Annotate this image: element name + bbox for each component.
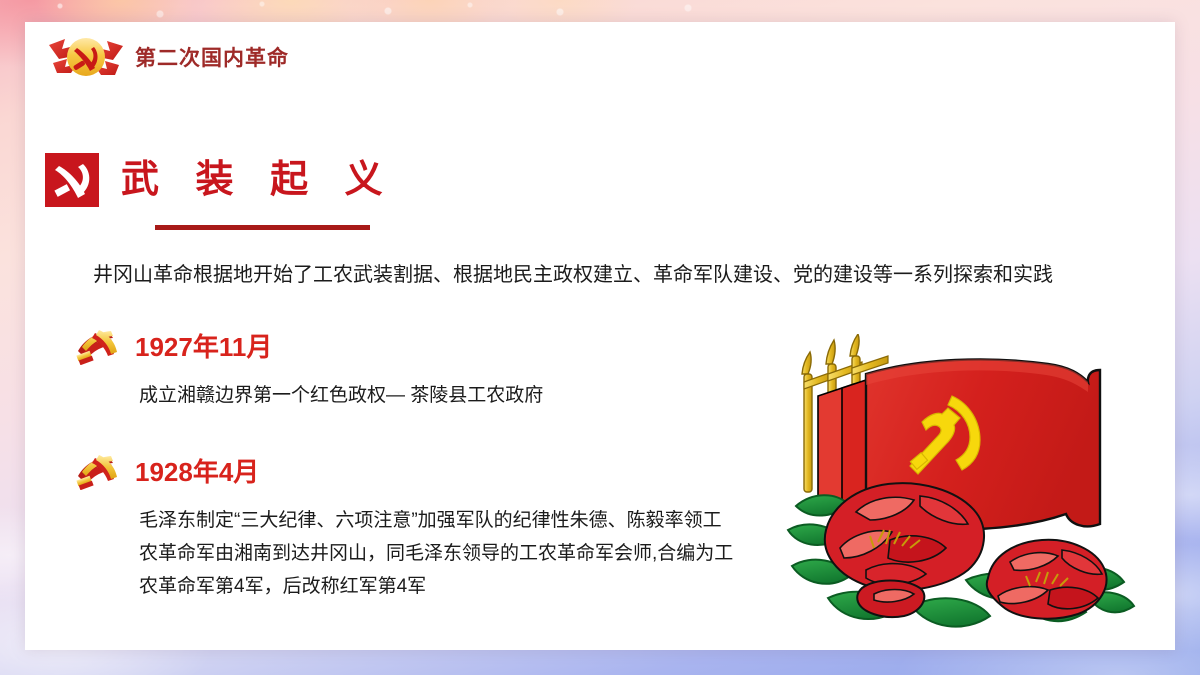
party-emblem-3d-icon: [71, 325, 121, 365]
slide-header: 第二次国内革命: [25, 22, 1175, 92]
section-title-row: 武 装 起 义: [45, 153, 396, 207]
timeline-entry-head: 1927年11月: [71, 325, 739, 365]
section-title: 武 装 起 义: [121, 161, 396, 199]
red-flag-with-peonies-illustration: [770, 334, 1170, 654]
section-title-underline: [155, 225, 370, 230]
header-title: 第二次国内革命: [135, 42, 289, 72]
intro-paragraph: 井冈山革命根据地开始了工农武装割据、根据地民主政权建立、革命军队建设、党的建设等…: [71, 258, 1141, 292]
timeline-entry: 1927年11月 成立湘赣边界第一个红色政权— 茶陵县工农政府: [71, 325, 739, 412]
timeline-entry: 1928年4月 毛泽东制定“三大纪律、六项注意”加强军队的纪律性朱德、陈毅率领工…: [71, 450, 739, 603]
timeline-entry-date: 1927年11月: [135, 327, 272, 364]
timeline-entry-date: 1928年4月: [135, 452, 259, 489]
party-emblem-3d-icon: [71, 450, 121, 490]
hammer-sickle-badge-icon: [45, 153, 99, 207]
timeline-entry-text: 毛泽东制定“三大纪律、六项注意”加强军队的纪律性朱德、陈毅率领工农革命军由湘南到…: [139, 504, 739, 603]
slide: 第二次国内革命 武 装 起 义 井冈山革命根据地开始了工农武装割据、根据地民主政…: [0, 0, 1200, 675]
timeline-entry-text: 成立湘赣边界第一个红色政权— 茶陵县工农政府: [139, 379, 739, 412]
content-card: 第二次国内革命 武 装 起 义 井冈山革命根据地开始了工农武装割据、根据地民主政…: [25, 22, 1175, 650]
party-emblem-ribbon-icon: [47, 29, 125, 85]
timeline-entry-head: 1928年4月: [71, 450, 739, 490]
